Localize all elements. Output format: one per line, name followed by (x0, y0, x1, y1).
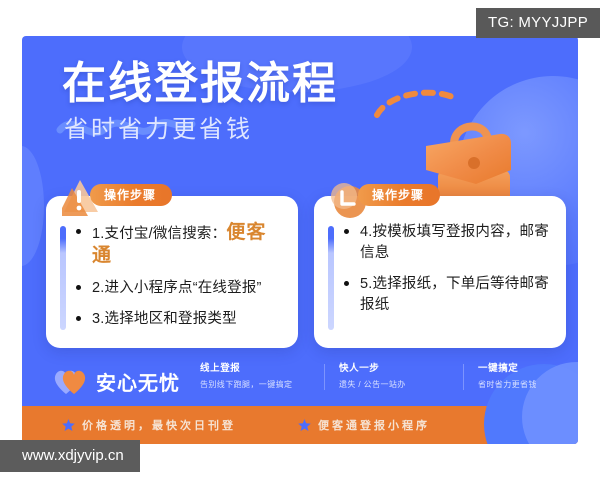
feature-desc: 省时省力更省钱 (478, 378, 578, 392)
title-block: 在线登报流程 省时省力更省钱 (62, 62, 338, 142)
feature-title: 线上登报 (200, 362, 310, 376)
list-item: 3.选择地区和登报类型 (76, 309, 286, 330)
bullet-dot-icon (76, 285, 81, 290)
star-icon (298, 419, 311, 432)
list-item: 4.按模板填写登报内容，邮寄信息 (344, 222, 554, 264)
star-icon (62, 419, 75, 432)
poster-header: 在线登报流程 省时省力更省钱 (22, 36, 578, 184)
feature-title: 一键搞定 (478, 362, 578, 376)
feature-desc: 遗失 / 公告一站办 (339, 378, 449, 392)
card-progress-rail-right (328, 226, 334, 330)
step-text: 3.选择地区和登报类型 (92, 311, 237, 327)
steps-card-left: 操作步骤 1.支付宝/微信搜索：便客通 2.进入小程序点“在线登报” 3.选择地… (46, 196, 298, 348)
feature-list: 线上登报 告别线下跑腿，一键搞定 快人一步 遗失 / 公告一站办 一键搞定 省时… (200, 362, 578, 392)
feature-item: 快人一步 遗失 / 公告一站办 (339, 362, 449, 392)
bottom-banner-item: 价格透明，最快次日刊登 (62, 417, 236, 433)
steps-card-right: 操作步骤 4.按模板填写登报内容，邮寄信息 5.选择报纸，下单后等待邮寄报纸 (314, 196, 566, 348)
bullet-dot-icon (344, 281, 349, 286)
card-badge-left: 操作步骤 (90, 184, 172, 206)
bottom-banner-text: 价格透明，最快次日刊登 (82, 417, 236, 433)
list-item: 2.进入小程序点“在线登报” (76, 278, 286, 299)
heart-icon (52, 366, 88, 396)
tg-watermark: TG: MYYJJPP (476, 8, 600, 38)
feature-title: 快人一步 (339, 362, 449, 376)
step-text: 5.选择报纸，下单后等待邮寄报纸 (360, 276, 549, 313)
benefits-strip: 安心无忧 线上登报 告别线下跑腿，一键搞定 快人一步 遗失 / 公告一站办 一键… (22, 358, 578, 410)
page-title: 在线登报流程 (62, 62, 338, 106)
bottom-banner-text: 便客通登报小程序 (318, 417, 430, 433)
divider (463, 364, 464, 390)
bullet-dot-icon (344, 229, 349, 234)
poster-canvas: 在线登报流程 省时省力更省钱 (22, 36, 578, 444)
assurance-block: 安心无忧 (52, 366, 180, 396)
bullet-dot-icon (76, 229, 81, 234)
step-text: 1.支付宝/微信搜索： (92, 226, 226, 242)
steps-list-right: 4.按模板填写登报内容，邮寄信息 5.选择报纸，下单后等待邮寄报纸 (344, 222, 554, 326)
feature-desc: 告别线下跑腿，一键搞定 (200, 378, 310, 392)
assurance-label: 安心无忧 (96, 367, 180, 396)
feature-item: 一键搞定 省时省力更省钱 (478, 362, 578, 392)
list-item: 1.支付宝/微信搜索：便客通 (76, 222, 286, 268)
list-item: 5.选择报纸，下单后等待邮寄报纸 (344, 274, 554, 316)
bottom-banner-item: 便客通登报小程序 (298, 417, 430, 433)
site-watermark: www.xdjyvip.cn (0, 440, 140, 472)
step-text: 4.按模板填写登报内容，邮寄信息 (360, 224, 549, 261)
steps-list-left: 1.支付宝/微信搜索：便客通 2.进入小程序点“在线登报” 3.选择地区和登报类… (76, 222, 286, 340)
page-subtitle: 省时省力更省钱 (64, 118, 338, 142)
bullet-dot-icon (76, 316, 81, 321)
feature-item: 线上登报 告别线下跑腿，一键搞定 (200, 362, 310, 392)
divider (324, 364, 325, 390)
step-text: 2.进入小程序点“在线登报” (92, 280, 262, 296)
card-badge-right: 操作步骤 (358, 184, 440, 206)
bottom-banner: 价格透明，最快次日刊登 便客通登报小程序 (22, 406, 578, 444)
card-progress-rail-left (60, 226, 66, 330)
